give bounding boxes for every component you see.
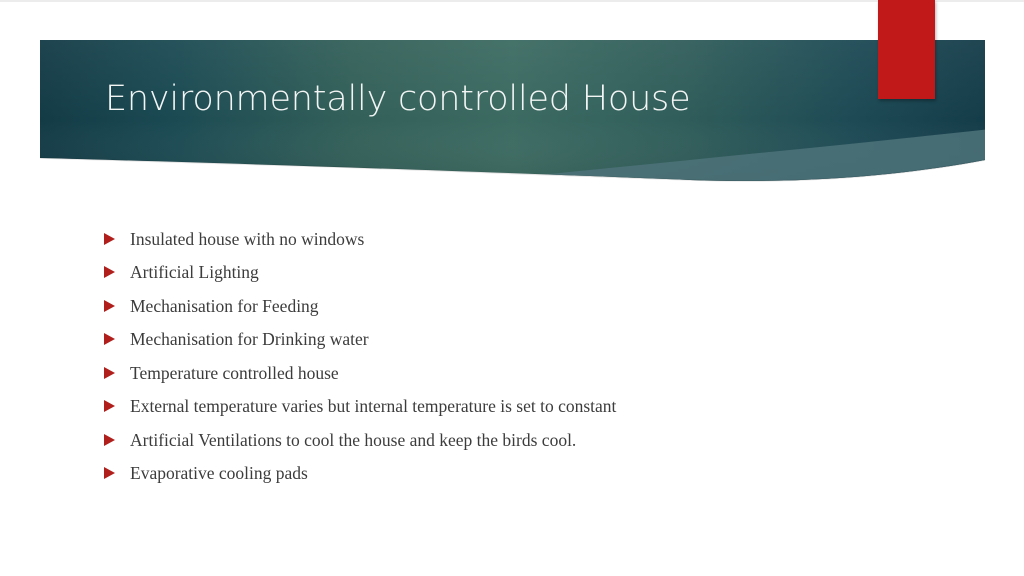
list-item-label: Temperature controlled house: [130, 362, 980, 384]
triangle-right-icon: [100, 400, 130, 412]
list-item-label: Mechanisation for Feeding: [130, 295, 980, 317]
list-item: Mechanisation for Feeding: [100, 289, 980, 323]
top-hairline: [0, 0, 1024, 2]
slide-title: Environmentally controlled House: [105, 76, 865, 122]
triangle-right-icon: [100, 467, 130, 479]
list-item-label: Artificial Lighting: [130, 261, 980, 283]
list-item: Artificial Ventilations to cool the hous…: [100, 423, 980, 457]
list-item-label: Artificial Ventilations to cool the hous…: [130, 429, 980, 451]
bullet-list: Insulated house with no windows Artifici…: [100, 222, 980, 490]
list-item: Evaporative cooling pads: [100, 457, 980, 491]
triangle-right-icon: [100, 300, 130, 312]
list-item: Insulated house with no windows: [100, 222, 980, 256]
list-item: Mechanisation for Drinking water: [100, 323, 980, 357]
list-item-label: External temperature varies but internal…: [130, 395, 980, 417]
triangle-right-icon: [100, 266, 130, 278]
triangle-right-icon: [100, 434, 130, 446]
list-item: Temperature controlled house: [100, 356, 980, 390]
list-item-label: Insulated house with no windows: [130, 228, 980, 250]
list-item-label: Evaporative cooling pads: [130, 462, 980, 484]
list-item-label: Mechanisation for Drinking water: [130, 328, 980, 350]
triangle-right-icon: [100, 367, 130, 379]
list-item: External temperature varies but internal…: [100, 390, 980, 424]
presentation-slide: Environmentally controlled House Insulat…: [0, 0, 1024, 576]
triangle-right-icon: [100, 233, 130, 245]
red-accent-bar: [878, 0, 935, 99]
list-item: Artificial Lighting: [100, 256, 980, 290]
triangle-right-icon: [100, 333, 130, 345]
